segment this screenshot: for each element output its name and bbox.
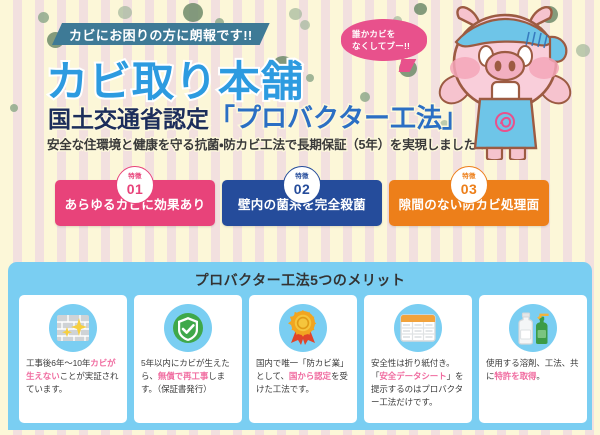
- feature-number-value: 01: [127, 182, 144, 196]
- benefit-card[interactable]: 工事後6年～10年カビが生えないことが実証されています。: [19, 295, 127, 423]
- feature-badge-label: 特徴: [295, 174, 309, 181]
- feature-number-02: 特徴 02: [283, 166, 321, 204]
- text-segment-highlight: 無償で再工事: [158, 371, 208, 381]
- benefit-card-text: 使用する溶剤、工法、共に特許を取得。: [486, 357, 581, 383]
- brick-wall-sparkle-icon: [49, 304, 97, 352]
- page-root: カビにお困りの方に朗報です!! カビ取り本舗 国土交通省認定「プロバクター工法」…: [0, 0, 600, 435]
- bubble-line-2: なくしてブー!!: [352, 40, 427, 52]
- benefits-title: プロバクター工法5つのメリット: [8, 270, 592, 290]
- pig-mascot: [432, 2, 578, 160]
- text-segment-highlight: 国から認定: [289, 371, 331, 381]
- feature-number-03: 特徴 03: [450, 166, 488, 204]
- feature-badge-label: 特徴: [462, 174, 476, 181]
- benefit-card-list: 工事後6年～10年カビが生えないことが実証されています。 5年以内にカビが生えた…: [19, 295, 587, 423]
- text-segment: 工事後6年～10年: [26, 358, 90, 368]
- bubble-line-1: 誰かカビを: [352, 28, 427, 40]
- award-medal-icon: [279, 304, 327, 352]
- feature-badge-03[interactable]: 特徴 03 隙間のない防カビ処理面: [389, 180, 549, 226]
- benefit-card-text: 5年以内にカビが生えたら、無償で再工事します。（保証書発行）: [141, 357, 236, 396]
- feature-badges: 特徴 01 あらゆるカビに効果あり 特徴 02 壁内の菌糸を完全殺菌 特徴 03…: [0, 172, 600, 230]
- data-sheet-table-icon: [394, 304, 442, 352]
- benefit-card-text: 安全性は折り紙付き。「安全データシート」を提示するのはプロバクター工法だけです。: [371, 357, 466, 409]
- feature-badge-label: 特徴: [128, 174, 142, 181]
- feature-badge-02[interactable]: 特徴 02 壁内の菌糸を完全殺菌: [222, 180, 382, 226]
- feature-number-value: 03: [461, 182, 478, 196]
- subtitle-certification: 国土交通省認定: [48, 106, 209, 132]
- mascot-speech-bubble: 誰かカビを なくしてブー!!: [341, 19, 427, 61]
- subtitle-method-name: 「プロバクター工法」: [209, 103, 468, 133]
- benefit-card[interactable]: 5年以内にカビが生えたら、無償で再工事します。（保証書発行）: [134, 295, 242, 423]
- text-segment: 。: [536, 371, 544, 381]
- benefit-card-text: 工事後6年～10年カビが生えないことが実証されています。: [26, 357, 121, 396]
- feature-number-value: 02: [294, 182, 311, 196]
- text-segment-highlight: 安全データシート: [379, 371, 446, 381]
- benefit-card-text: 国内で唯一「防カビ業」として、国から認定を受けた工法です。: [256, 357, 351, 396]
- benefit-card[interactable]: 使用する溶剤、工法、共に特許を取得。: [479, 295, 587, 423]
- spray-bottle-icon: [509, 304, 557, 352]
- benefit-card[interactable]: 国内で唯一「防カビ業」として、国から認定を受けた工法です。: [249, 295, 357, 423]
- subtitle: 国土交通省認定「プロバクター工法」: [48, 98, 468, 135]
- text-segment-highlight: 特許を取得: [494, 371, 536, 381]
- ribbon-text: カビにお困りの方に朗報です!!: [69, 25, 253, 44]
- lead-paragraph: 安全な住環境と健康を守る抗菌・防カビ工法で長期保証（5年）を実現しました！: [47, 134, 488, 153]
- benefits-panel: プロバクター工法5つのメリット: [8, 262, 592, 430]
- announcement-ribbon: カビにお困りの方に朗報です!!: [52, 23, 270, 45]
- feature-number-01: 特徴 01: [116, 166, 154, 204]
- feature-badge-01[interactable]: 特徴 01 あらゆるカビに効果あり: [55, 180, 215, 226]
- shield-check-icon: [164, 304, 212, 352]
- benefit-card[interactable]: 安全性は折り紙付き。「安全データシート」を提示するのはプロバクター工法だけです。: [364, 295, 472, 423]
